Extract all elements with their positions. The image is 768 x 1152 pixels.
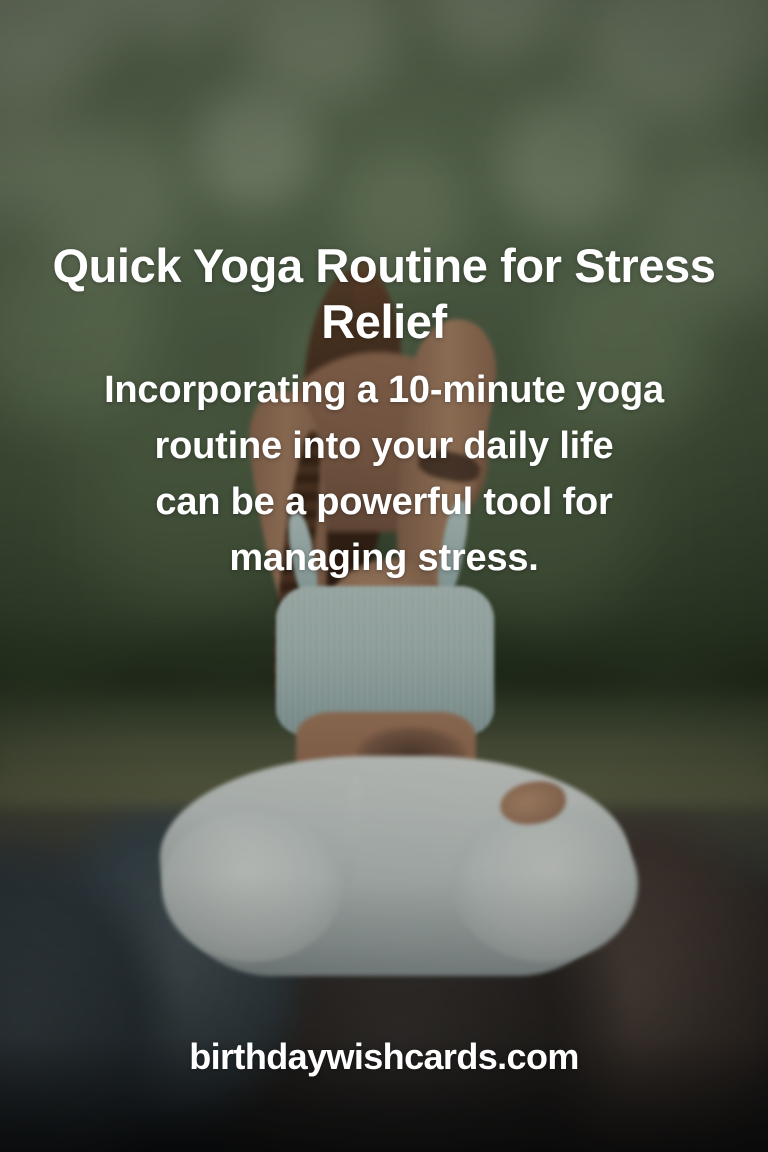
body-line-1: Incorporating a 10-minute yoga bbox=[64, 362, 704, 418]
site-watermark: birthdaywishcards.com bbox=[0, 1035, 768, 1079]
body-line-4: managing stress. bbox=[64, 530, 704, 586]
pinterest-style-quote-card: Quick Yoga Routine for Stress Relief Inc… bbox=[0, 0, 768, 1152]
card-headline: Quick Yoga Routine for Stress Relief bbox=[34, 238, 734, 350]
card-body-text: Incorporating a 10-minute yoga routine i… bbox=[64, 362, 704, 586]
text-overlay: Quick Yoga Routine for Stress Relief Inc… bbox=[0, 0, 768, 1152]
body-line-3: can be a powerful tool for bbox=[64, 474, 704, 530]
body-line-2: routine into your daily life bbox=[64, 418, 704, 474]
